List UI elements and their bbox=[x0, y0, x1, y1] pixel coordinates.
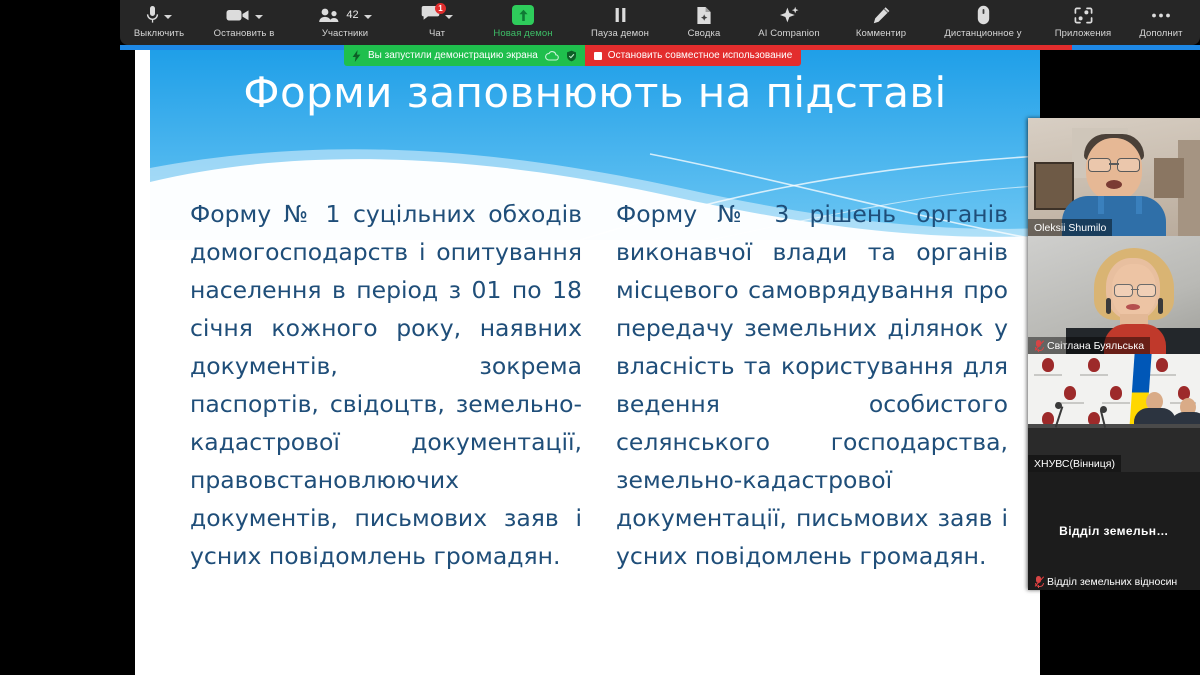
screen-share-notice-bar: Вы запустили демонстрацию экрана Останов… bbox=[344, 45, 801, 66]
toolbar-label: Дистанционное у bbox=[944, 28, 1021, 40]
participant-name: Відділ земельних відносин bbox=[1047, 576, 1177, 588]
participant-name: Oleksii Shumilo bbox=[1034, 222, 1106, 234]
apps-icon bbox=[1074, 7, 1093, 24]
participant-name: Світлана Буяльська bbox=[1047, 340, 1144, 352]
summary-button[interactable]: Сводка bbox=[668, 0, 740, 45]
toolbar-label: Пауза демон bbox=[591, 28, 649, 40]
chevron-down-icon[interactable] bbox=[445, 15, 453, 19]
ai-companion-button[interactable]: AI Companion bbox=[740, 0, 838, 45]
pause-share-button[interactable]: Пауза демон bbox=[572, 0, 668, 45]
apps-button[interactable]: Приложения bbox=[1042, 0, 1124, 45]
ai-sparkle-icon bbox=[779, 6, 800, 25]
share-screen-icon bbox=[512, 5, 534, 25]
tile-name-label: Світлана Буяльська bbox=[1028, 337, 1150, 354]
share-status: Вы запустили демонстрацию экрана bbox=[344, 45, 585, 66]
more-button[interactable]: Дополнит bbox=[1124, 0, 1198, 45]
presentation-slide: Форми заповнюють на підставі Форму № 1 с… bbox=[150, 50, 1040, 675]
muted-microphone-icon bbox=[1034, 340, 1043, 352]
meeting-toolbar[interactable]: Выключить Остановить в bbox=[120, 0, 1200, 45]
annotate-button[interactable]: Комментир bbox=[838, 0, 924, 45]
toolbar-label: Приложения bbox=[1055, 28, 1112, 40]
stop-share-button[interactable]: Остановить совместное использование bbox=[585, 45, 802, 66]
toolbar-label: Комментир bbox=[856, 28, 906, 40]
muted-microphone-icon bbox=[1034, 576, 1043, 588]
toolbar-label: Чат bbox=[429, 28, 445, 40]
toolbar-label: Участники bbox=[322, 28, 368, 40]
toolbar-label: Дополнит bbox=[1139, 28, 1182, 40]
shared-screen-area: Форми заповнюють на підставі Форму № 1 с… bbox=[135, 50, 1040, 675]
stop-square-icon bbox=[594, 52, 602, 60]
remote-control-button[interactable]: Дистанционное у bbox=[924, 0, 1042, 45]
slide-body-columns: Форму № 1 суцільних обходів домогосподар… bbox=[190, 195, 1008, 575]
chat-unread-badge: 1 bbox=[435, 3, 446, 14]
new-share-button[interactable]: Новая демон bbox=[474, 0, 572, 45]
participants-video-strip[interactable]: Oleksii Shumilo Світлана Буяльська bbox=[1028, 118, 1200, 590]
slide-column-right: Форму № 3 рішень органів виконавчої влад… bbox=[616, 195, 1008, 575]
cloud-icon bbox=[545, 51, 559, 61]
chat-button[interactable]: 1 Чат bbox=[400, 0, 474, 45]
pencil-annotate-icon bbox=[872, 6, 891, 25]
slide-title: Форми заповнюють на підставі bbox=[150, 68, 1040, 117]
pause-icon bbox=[613, 7, 628, 23]
participant-count: 42 bbox=[346, 9, 358, 21]
tile-name-label: Oleksii Shumilo bbox=[1028, 219, 1112, 236]
video-tile-participant[interactable]: Відділ земельн… Відділ земельних відноси… bbox=[1028, 472, 1200, 590]
remote-control-mouse-icon bbox=[977, 5, 990, 25]
toolbar-label: Сводка bbox=[688, 28, 721, 40]
stop-video-button[interactable]: Остановить в bbox=[198, 0, 290, 45]
share-status-text: Вы запустили демонстрацию экрана bbox=[368, 50, 538, 61]
toolbar-label: AI Companion bbox=[758, 28, 819, 40]
zoom-meeting-window: Форми заповнюють на підставі Форму № 1 с… bbox=[0, 0, 1200, 675]
bolt-icon bbox=[352, 50, 361, 62]
video-tile-participant[interactable]: ХНУВС(Вінниця) bbox=[1028, 354, 1200, 472]
video-tile-participant[interactable]: Oleksii Shumilo bbox=[1028, 118, 1200, 236]
participants-icon bbox=[318, 8, 340, 23]
strip-segment bbox=[772, 45, 1072, 50]
participants-button[interactable]: 42 Участники bbox=[290, 0, 400, 45]
mute-button[interactable]: Выключить bbox=[120, 0, 198, 45]
chevron-down-icon[interactable] bbox=[164, 15, 172, 19]
chevron-down-icon[interactable] bbox=[255, 15, 263, 19]
participant-name: ХНУВС(Вінниця) bbox=[1034, 458, 1115, 470]
video-tile-participant[interactable]: Світлана Буяльська bbox=[1028, 236, 1200, 354]
strip-segment bbox=[1072, 45, 1200, 50]
toolbar-label: Выключить bbox=[134, 28, 184, 40]
slide-column-left: Форму № 1 суцільних обходів домогосподар… bbox=[190, 195, 582, 575]
microphone-icon bbox=[146, 5, 159, 25]
video-camera-icon bbox=[226, 7, 250, 23]
summary-document-icon bbox=[696, 6, 712, 25]
toolbar-label: Остановить в bbox=[214, 28, 275, 40]
tile-name-label: ХНУВС(Вінниця) bbox=[1028, 455, 1121, 472]
tile-name-label: Відділ земельних відносин bbox=[1028, 573, 1183, 590]
strip-segment bbox=[120, 45, 352, 50]
shield-icon[interactable] bbox=[566, 50, 577, 62]
stop-share-label: Остановить совместное использование bbox=[608, 50, 793, 61]
more-ellipsis-icon bbox=[1151, 12, 1171, 19]
chevron-down-icon[interactable] bbox=[364, 15, 372, 19]
toolbar-label: Новая демон bbox=[493, 28, 552, 40]
